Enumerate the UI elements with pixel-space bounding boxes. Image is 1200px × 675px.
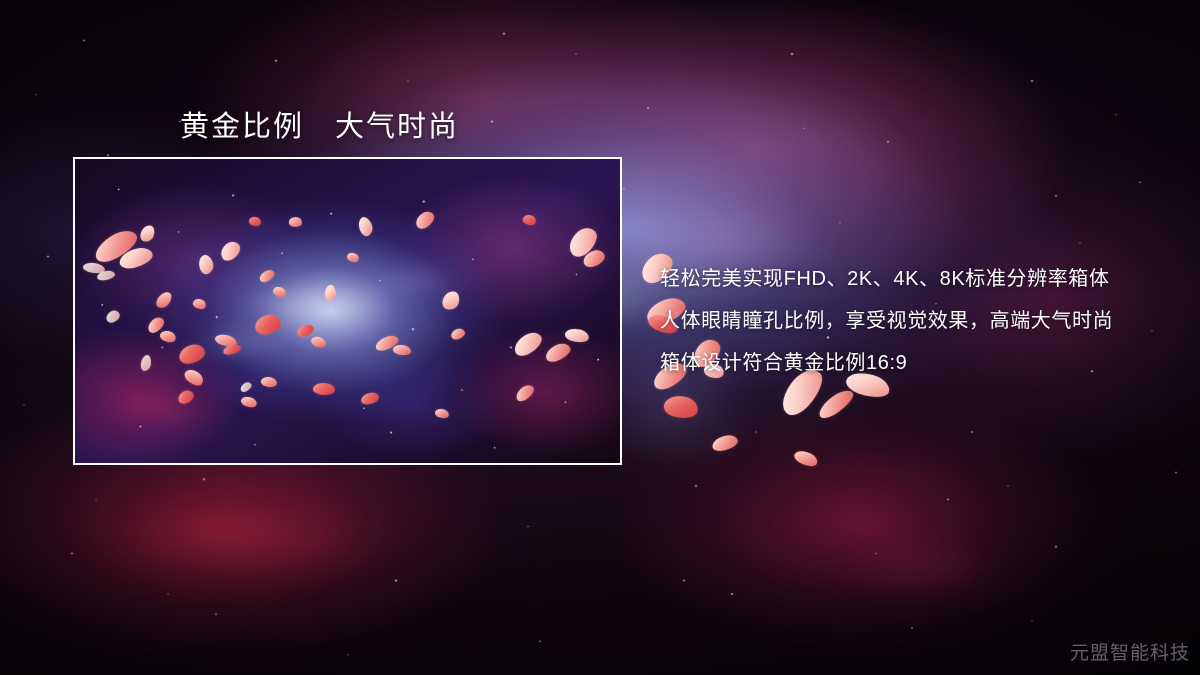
photo-starfield <box>75 159 620 463</box>
body-line-3: 箱体设计符合黄金比例16:9 <box>660 342 1113 384</box>
watermark: 元盟智能科技 <box>1070 638 1190 665</box>
page-title: 黄金比例 大气时尚 <box>180 103 459 145</box>
body-text-block: 轻松完美实现FHD、2K、4K、8K标准分辨率箱体 人体眼睛瞳孔比例，享受视觉效… <box>660 258 1113 384</box>
framed-photo <box>73 157 622 465</box>
body-line-1: 轻松完美实现FHD、2K、4K、8K标准分辨率箱体 <box>660 258 1113 300</box>
photo-inner <box>75 159 620 463</box>
presentation-slide: 黄金比例 大气时尚 <box>0 0 1200 675</box>
body-line-2: 人体眼睛瞳孔比例，享受视觉效果，高端大气时尚 <box>660 300 1113 342</box>
